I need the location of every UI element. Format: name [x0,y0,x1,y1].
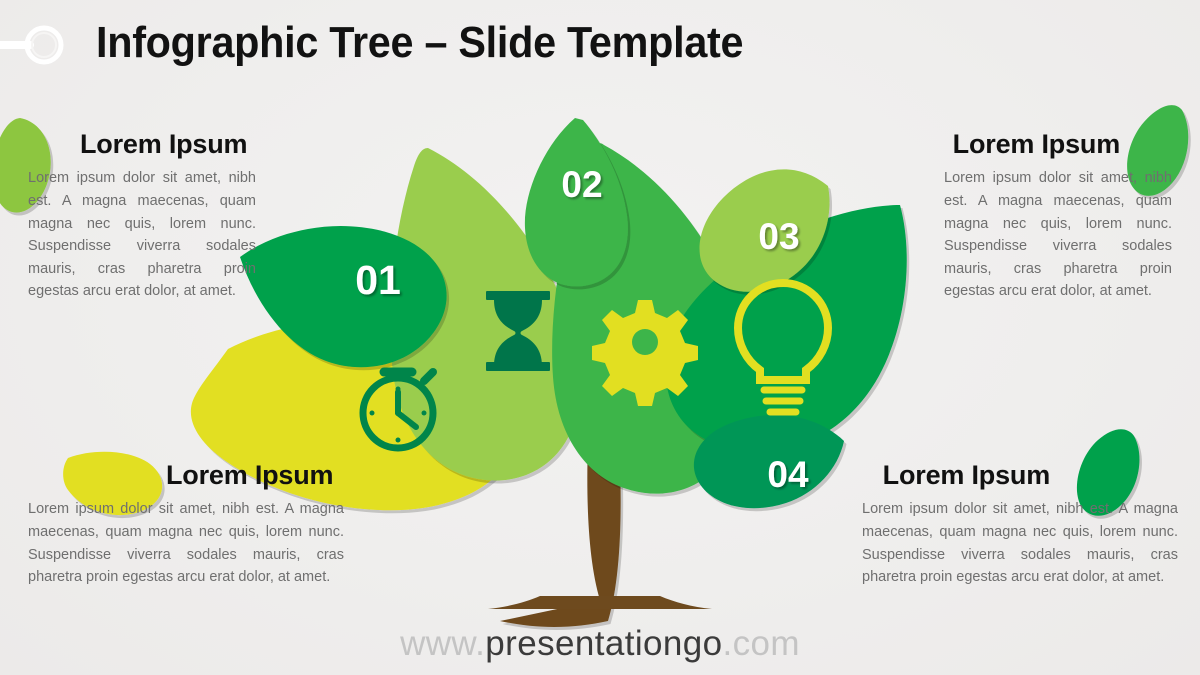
text-block-bottom-left: Lorem Ipsum Lorem ipsum dolor sit amet, … [28,461,344,589]
body-bottom-left: Lorem ipsum dolor sit amet, nibh est. A … [28,498,344,588]
text-block-bottom-right: Lorem Ipsum Lorem ipsum dolor sit amet, … [862,461,1178,589]
badge-leaf-step-2[interactable]: 02 [525,118,628,286]
slide-canvas: Infographic Tree – Slide Template [0,0,1200,675]
text-block-top-right: Lorem Ipsum Lorem ipsum dolor sit amet, … [944,130,1172,303]
footer-branding: www.presentationgo.com [0,626,1200,661]
body-bottom-right: Lorem ipsum dolor sit amet, nibh est. A … [862,498,1178,588]
footer-brand: presentationgo [485,624,722,663]
heading-top-right: Lorem Ipsum [944,130,1172,158]
gear-icon [592,300,698,406]
body-top-left: Lorem ipsum dolor sit amet, nibh est. A … [28,167,256,303]
footer-suffix: .com [722,624,799,663]
footer-prefix: www. [400,624,485,663]
step-number-1: 01 [355,257,401,303]
step-number-2: 02 [561,164,602,205]
heading-top-left: Lorem Ipsum [28,130,256,158]
step-number-3: 03 [758,216,799,257]
step-number-4: 04 [767,454,809,495]
heading-bottom-left: Lorem Ipsum [28,461,344,489]
heading-bottom-right: Lorem Ipsum [862,461,1178,489]
body-top-right: Lorem ipsum dolor sit amet, nibh est. A … [944,167,1172,303]
text-block-top-left: Lorem Ipsum Lorem ipsum dolor sit amet, … [28,130,256,303]
